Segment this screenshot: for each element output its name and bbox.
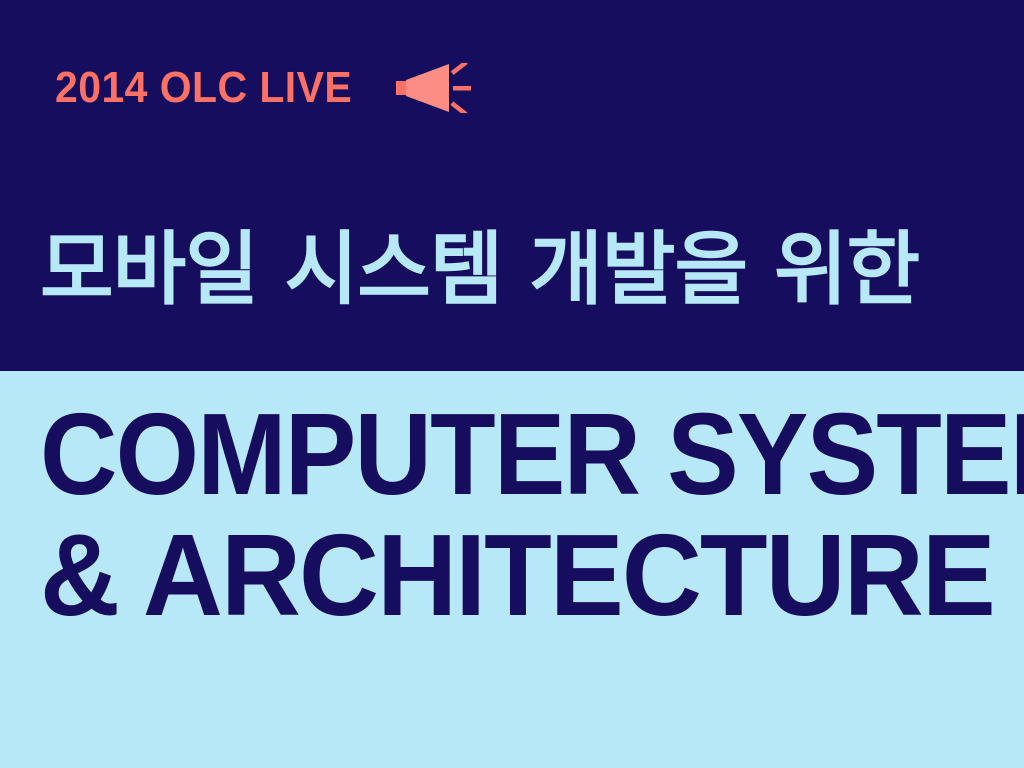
- eyebrow-label: 2014 OLC LIVE: [55, 66, 352, 110]
- main-title-line-2: & ARCHITECTURE: [40, 515, 961, 636]
- megaphone-icon: [389, 63, 471, 113]
- main-title: COMPUTER SYSTEM & ARCHITECTURE: [40, 394, 1004, 635]
- main-title-line-1: COMPUTER SYSTEM: [40, 394, 932, 515]
- presentation-slide: 2014 OLC LIVE 모바일 시스템 개발을 위한 COMPUTER SY…: [0, 0, 1024, 768]
- korean-subtitle: 모바일 시스템 개발을 위한: [40, 229, 1000, 311]
- eyebrow-row: 2014 OLC LIVE: [55, 60, 471, 116]
